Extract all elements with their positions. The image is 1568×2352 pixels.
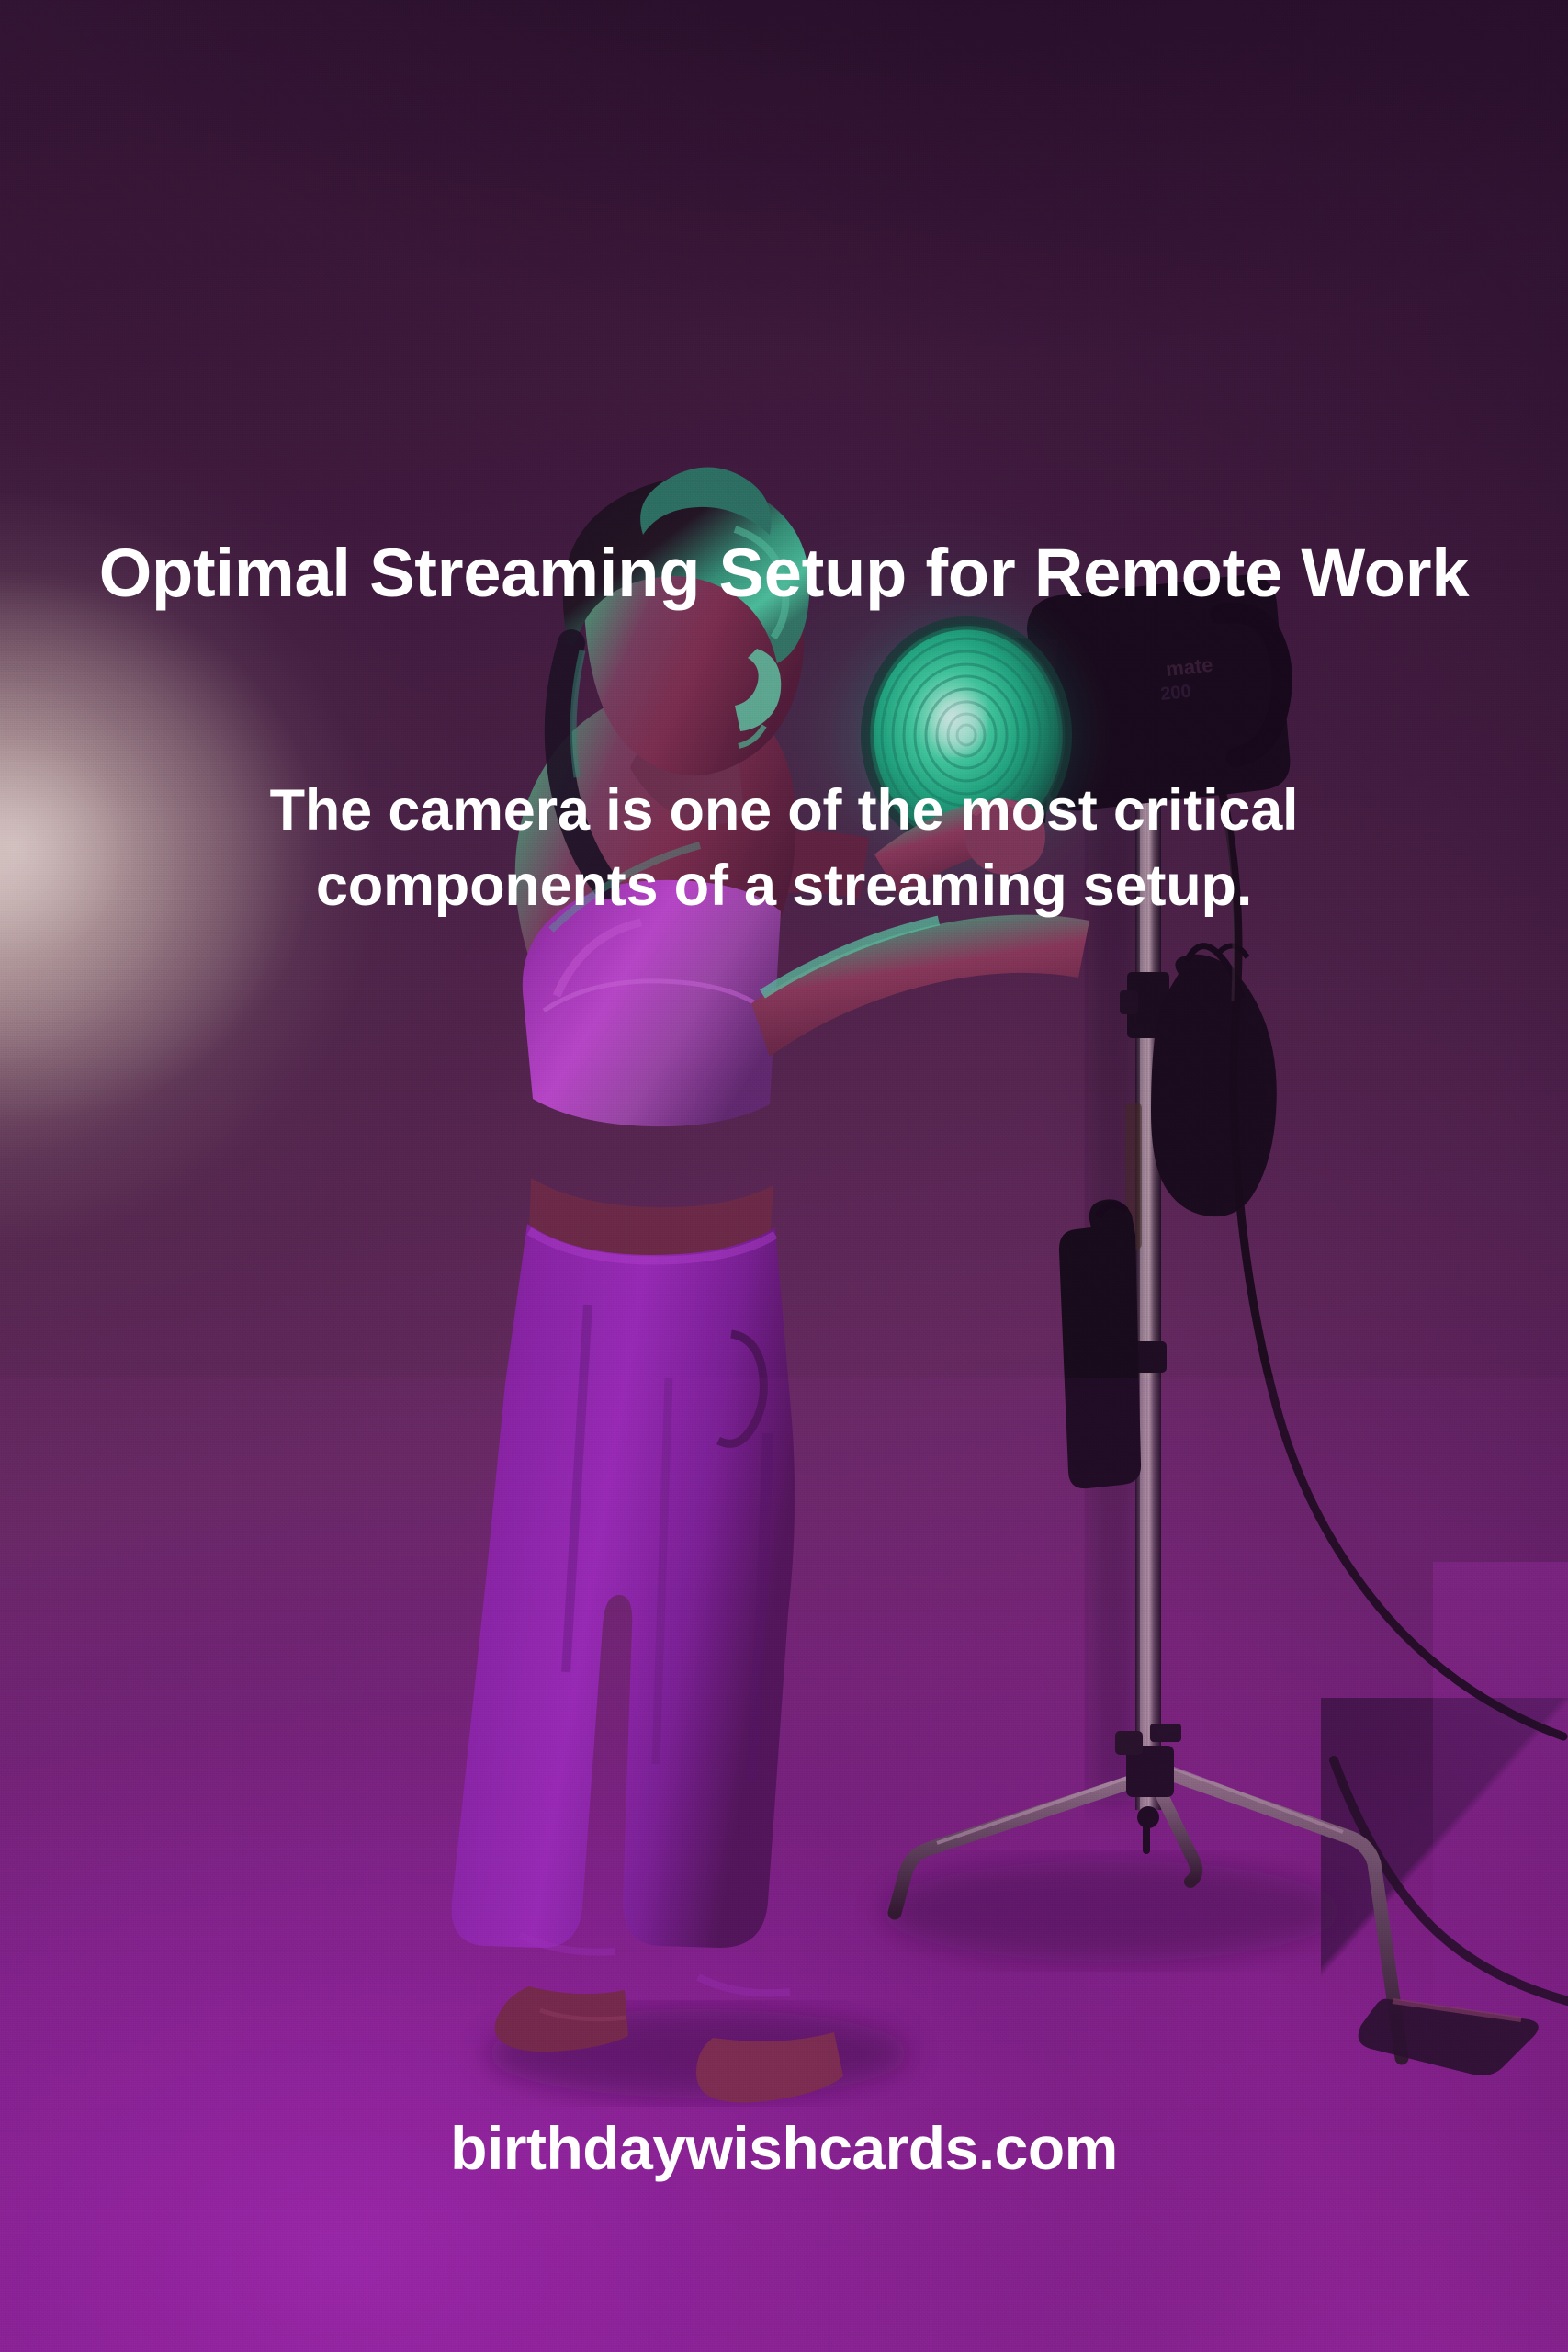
subtitle-text: The camera is one of the most critical c… <box>0 774 1568 924</box>
text-overlay: Optimal Streaming Setup for Remote Work … <box>0 0 1568 2352</box>
website-url[interactable]: birthdaywishcards.com <box>0 2113 1568 2183</box>
pinterest-style-quote-card: mate 200 <box>0 0 1568 2352</box>
page-title: Optimal Streaming Setup for Remote Work <box>0 533 1568 613</box>
